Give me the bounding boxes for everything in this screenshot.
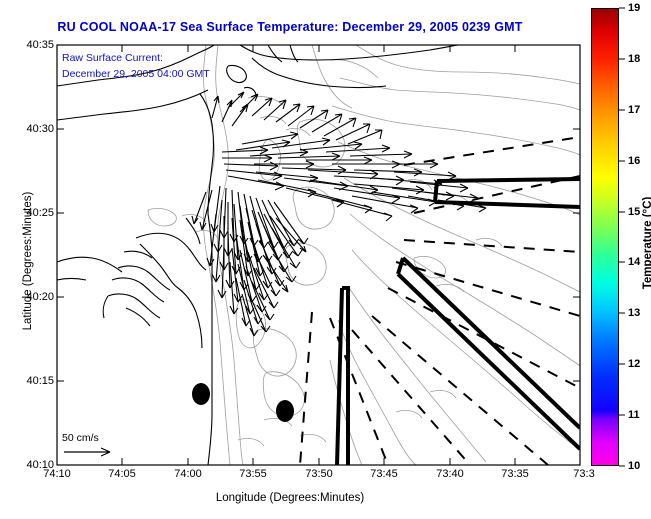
colorbar-tick-11: 11	[628, 409, 640, 421]
sst-map-figure: RU COOL NOAA-17 Sea Surface Temperature:…	[0, 0, 651, 519]
colorbar-tick-14: 14	[628, 256, 640, 268]
station-marker	[192, 383, 210, 405]
y-tick-1: 40:30	[26, 123, 54, 135]
x-tick-3: 73:55	[239, 468, 267, 480]
station-marker	[276, 400, 294, 422]
x-tick-6: 73:40	[436, 468, 464, 480]
x-axis-label: Longitude (Degrees:Minutes)	[0, 492, 580, 504]
colorbar-axis-label: Temperature (°C)	[642, 143, 651, 343]
vector-scale-label: 50 cm/s	[62, 432, 99, 444]
colorbar-tick-18: 18	[628, 53, 640, 65]
colorbar-tick-10: 10	[628, 460, 640, 472]
colorbar-tick-12: 12	[628, 358, 640, 370]
colorbar-tick-19: 19	[628, 2, 640, 14]
x-tick-4: 73:50	[305, 468, 333, 480]
x-tick-1: 74:05	[108, 468, 136, 480]
y-tick-5: 40:10	[26, 459, 54, 471]
current-annotation-label: Raw Surface Current:	[62, 52, 163, 64]
x-tick-5: 73:45	[370, 468, 398, 480]
colorbar-tick-15: 15	[628, 206, 640, 218]
colorbar	[591, 8, 619, 466]
y-axis-label: Latitude (Degrees:Minutes)	[22, 141, 34, 381]
x-tick-8: 73:3	[573, 468, 594, 480]
x-tick-7: 73:35	[501, 468, 529, 480]
colorbar-tick-13: 13	[628, 307, 640, 319]
colorbar-tick-16: 16	[628, 155, 640, 167]
current-annotation-time: December 29, 2005 04:00 GMT	[62, 68, 210, 80]
x-tick-2: 74:00	[174, 468, 202, 480]
y-tick-0: 40:35	[26, 39, 54, 51]
colorbar-tick-17: 17	[628, 104, 640, 116]
